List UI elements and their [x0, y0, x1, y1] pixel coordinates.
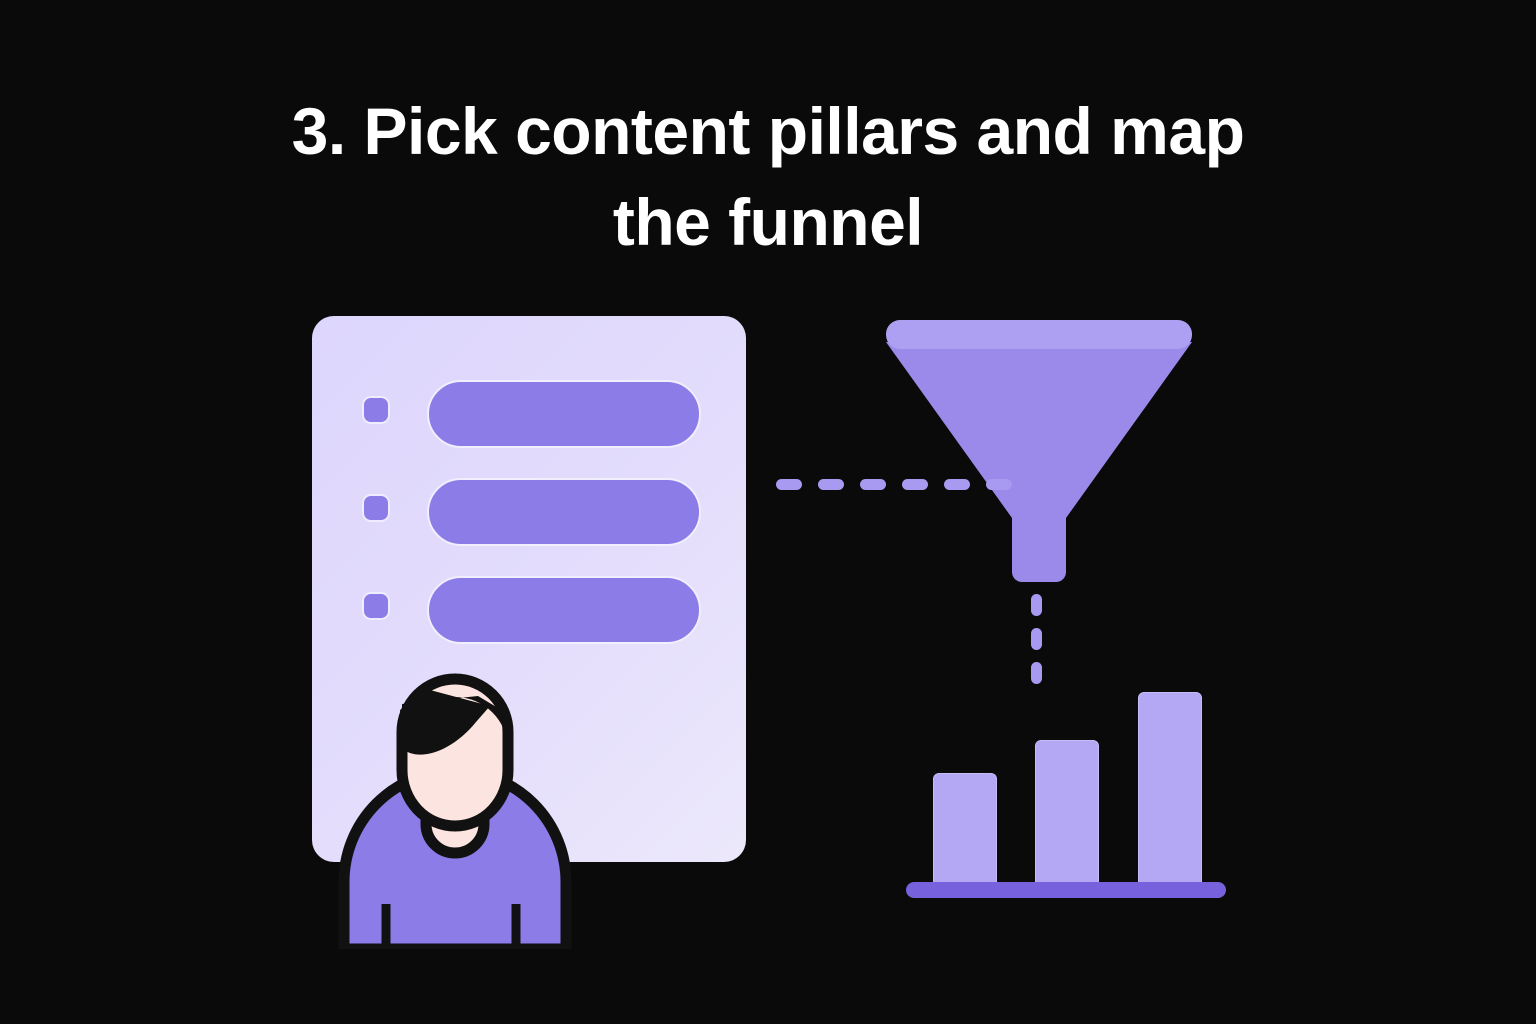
checklist-bullet-icon [362, 592, 390, 620]
marketer-avatar [330, 664, 580, 949]
marketing-funnel-icon [876, 310, 1202, 590]
chart-bar [1138, 692, 1202, 886]
connector-dash [944, 479, 970, 490]
connector-dash [1031, 594, 1042, 616]
slide-canvas: 3. Pick content pillars and map the funn… [0, 0, 1536, 1024]
checklist-item-bar [427, 478, 701, 546]
chart-baseline-axis [906, 882, 1226, 898]
connector-dash [776, 479, 802, 490]
chart-bar [1035, 740, 1099, 886]
chart-bar [933, 773, 997, 886]
illustration-group [0, 0, 1536, 1024]
funnel-rim [886, 320, 1192, 349]
connector-dash [986, 479, 1012, 490]
connector-dash [860, 479, 886, 490]
results-bar-chart [900, 640, 1236, 908]
checklist-item-bar [427, 380, 701, 448]
checklist-bullet-icon [362, 494, 390, 522]
checklist-item-bar [427, 576, 701, 644]
connector-dash [902, 479, 928, 490]
funnel-body [886, 342, 1192, 582]
checklist-bullet-icon [362, 396, 390, 424]
connector-dash [818, 479, 844, 490]
